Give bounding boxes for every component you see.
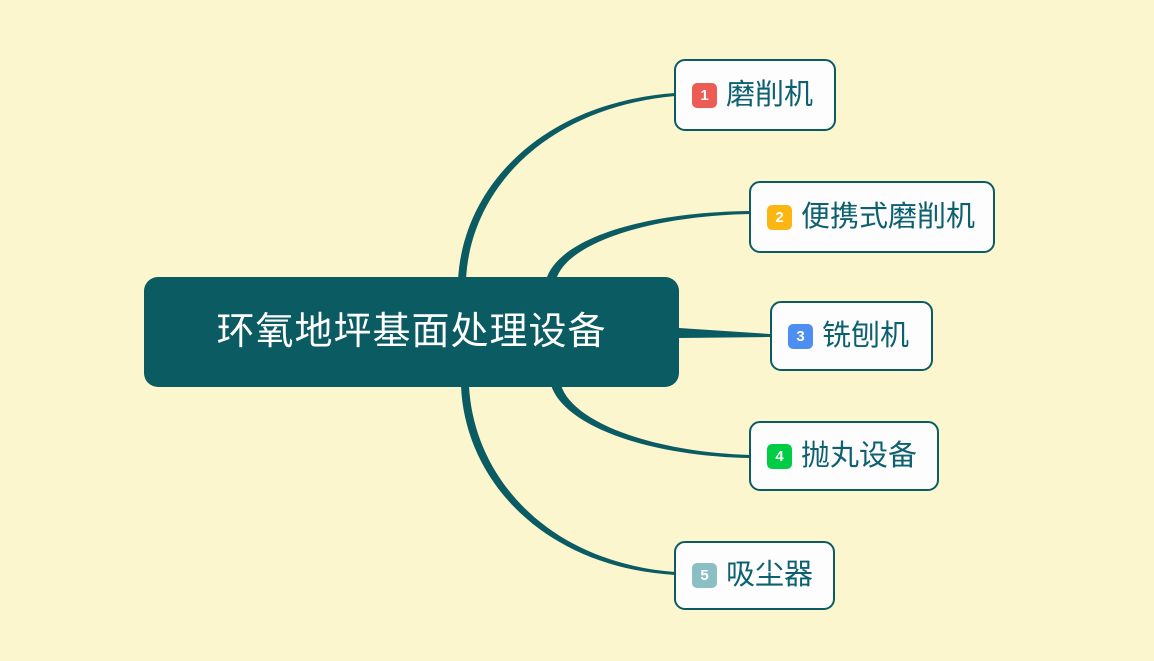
connector-branch-4 xyxy=(551,385,750,458)
connector-branch-5 xyxy=(461,386,675,575)
root-node-label: 环氧地坪基面处理设备 xyxy=(216,313,606,351)
branch-badge-1: 1 xyxy=(692,83,717,108)
branch-label-3: 铣刨机 xyxy=(822,322,909,351)
branch-node-5[interactable]: 5 吸尘器 xyxy=(674,541,835,610)
branch-badge-3: 3 xyxy=(788,324,813,349)
connector-branch-2 xyxy=(546,211,750,280)
branch-node-4[interactable]: 4 抛丸设备 xyxy=(749,421,939,491)
branch-label-5: 吸尘器 xyxy=(726,561,813,590)
connector-branch-1 xyxy=(458,93,675,280)
connector-branch-3 xyxy=(679,328,770,338)
branch-badge-5: 5 xyxy=(692,563,717,588)
branch-label-2: 便携式磨削机 xyxy=(801,203,975,232)
branch-label-4: 抛丸设备 xyxy=(801,442,917,471)
branch-node-1[interactable]: 1 磨削机 xyxy=(674,59,836,131)
branch-badge-2: 2 xyxy=(767,205,792,230)
branch-badge-4: 4 xyxy=(767,444,792,469)
mindmap-canvas: 环氧地坪基面处理设备 1 磨削机 2 便携式磨削机 3 铣刨机 4 抛丸设备 5… xyxy=(0,0,1154,661)
branch-node-3[interactable]: 3 铣刨机 xyxy=(770,301,933,371)
branch-label-1: 磨削机 xyxy=(726,81,813,110)
branch-node-2[interactable]: 2 便携式磨削机 xyxy=(749,181,995,253)
root-node[interactable]: 环氧地坪基面处理设备 xyxy=(144,277,679,387)
